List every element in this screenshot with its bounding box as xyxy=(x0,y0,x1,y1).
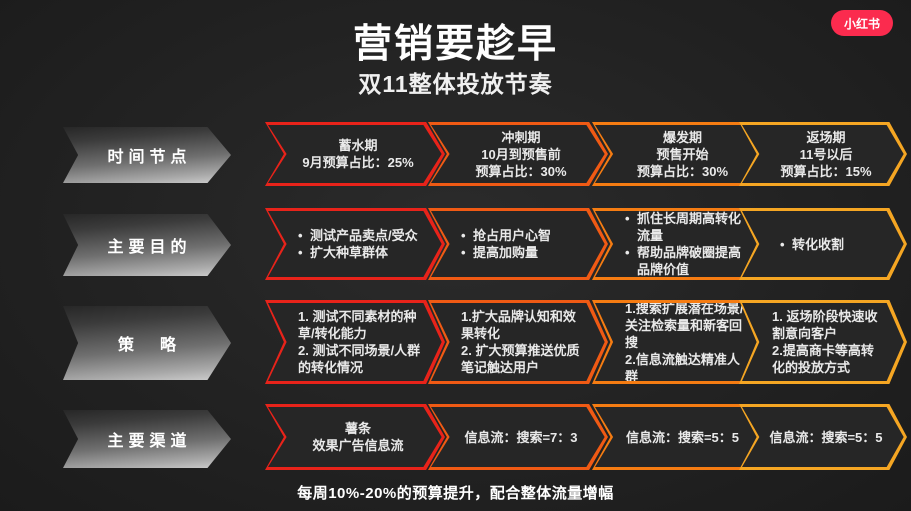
phase-cell-line: 11号以后 xyxy=(768,146,884,163)
phase-cell-line: 返场期 xyxy=(768,129,884,146)
bullet-item: •转化收割 xyxy=(780,236,884,253)
bullet-item: •抓住长周期高转化流量 xyxy=(625,210,744,244)
bullet-dot-icon: • xyxy=(298,227,310,244)
phase-cell-text: 1. 返场阶段快速收割意向客户2.提高商卡等高转化的投放方式 xyxy=(742,308,904,376)
phase-cell-fill: 返场期11号以后预算占比：15% xyxy=(742,125,904,183)
phase-cell-fill: 冲刺期10月到预售前预算占比：30% xyxy=(431,125,605,183)
phase-cell-fill: 蓄水期9月预算占比：25% xyxy=(268,125,442,183)
row-label-time-node: 时间节点 xyxy=(63,127,231,183)
xiaohongshu-logo: 小红书 xyxy=(831,10,893,36)
bullet-text: 转化收割 xyxy=(792,236,844,253)
phase-cell-line: 2. 测试不同场景/人群的转化情况 xyxy=(298,342,422,376)
bullet-item: •帮助品牌破圈提高品牌价值 xyxy=(625,244,744,278)
phase-cell-fill: 1. 返场阶段快速收割意向客户2.提高商卡等高转化的投放方式 xyxy=(742,303,904,381)
bullet-item: •抢占用户心智 xyxy=(461,227,585,244)
phase-cell-text: 信息流：搜索=5：5 xyxy=(595,429,764,446)
phase-cell-line: 预算占比：30% xyxy=(457,163,585,180)
phase-cell-fill: 1.扩大品牌认知和效果转化2. 扩大预算推送优质笔记触达用户 xyxy=(431,303,605,381)
bullet-text: 抓住长周期高转化流量 xyxy=(637,210,744,244)
phase-cell-line: 10月到预售前 xyxy=(457,146,585,163)
phase-cell-fill: 信息流：搜索=7：3 xyxy=(431,407,605,467)
phase-cell-r2-c2: •抢占用户心智•提高加购量 xyxy=(428,208,608,280)
bullet-dot-icon: • xyxy=(461,244,473,261)
phase-cell-text: •抢占用户心智•提高加购量 xyxy=(431,227,605,261)
phase-cell-r4-c2: 信息流：搜索=7：3 xyxy=(428,404,608,470)
phase-cell-line: 1. 测试不同素材的种草/转化能力 xyxy=(298,308,422,342)
bullet-text: 帮助品牌破圈提高品牌价值 xyxy=(637,244,744,278)
phase-cell-fill: 薯条效果广告信息流 xyxy=(268,407,442,467)
phase-cell-text: 1.搜索扩展潜在场景/关注检索量和新客回搜2.信息流触达精准人群 xyxy=(595,300,764,385)
row-label-text: 策略 xyxy=(92,331,202,355)
phase-cell-line: 效果广告信息流 xyxy=(294,437,422,454)
phase-cell-fill: •抢占用户心智•提高加购量 xyxy=(431,211,605,277)
phase-cell-text: 1.扩大品牌认知和效果转化2. 扩大预算推送优质笔记触达用户 xyxy=(431,308,605,376)
phase-cell-r3-c4: 1. 返场阶段快速收割意向客户2.提高商卡等高转化的投放方式 xyxy=(739,300,907,384)
bullet-item: •提高加购量 xyxy=(461,244,585,261)
phase-cell-line: 预算占比：15% xyxy=(768,163,884,180)
phase-cell-fill: 信息流：搜索=5：5 xyxy=(595,407,764,467)
phase-cell-text: •测试产品卖点/受众•扩大种草群体 xyxy=(268,227,442,261)
phase-cell-text: 爆发期预售开始预算占比：30% xyxy=(595,129,764,180)
phase-cell-text: 1. 测试不同素材的种草/转化能力2. 测试不同场景/人群的转化情况 xyxy=(268,308,442,376)
phase-cell-line: 信息流：搜索=7：3 xyxy=(457,429,585,446)
bullet-item: •扩大种草群体 xyxy=(298,244,422,261)
row-label-text: 主要目的 xyxy=(102,233,191,257)
phase-cell-line: 1.搜索扩展潜在场景/关注检索量和新客回搜 xyxy=(625,300,744,351)
bullet-dot-icon: • xyxy=(625,210,637,227)
bullet-item: •测试产品卖点/受众 xyxy=(298,227,422,244)
phase-cell-line: 1. 返场阶段快速收割意向客户 xyxy=(772,308,884,342)
bullet-dot-icon: • xyxy=(461,227,473,244)
phase-cell-text: 薯条效果广告信息流 xyxy=(268,420,442,454)
phase-cell-line: 信息流：搜索=5：5 xyxy=(621,429,744,446)
phase-cell-text: 返场期11号以后预算占比：15% xyxy=(742,129,904,180)
phase-cell-text: 蓄水期9月预算占比：25% xyxy=(268,137,442,171)
page-title: 营销要趁早 xyxy=(0,22,911,68)
phase-cell-r4-c1: 薯条效果广告信息流 xyxy=(265,404,445,470)
bullet-text: 测试产品卖点/受众 xyxy=(310,227,418,244)
bullet-text: 提高加购量 xyxy=(473,244,538,261)
phase-cell-text: •转化收割 xyxy=(742,236,904,253)
row-label-text: 时间节点 xyxy=(102,143,191,167)
phase-cell-fill: 爆发期预售开始预算占比：30% xyxy=(595,125,764,183)
phase-cell-text: •抓住长周期高转化流量•帮助品牌破圈提高品牌价值 xyxy=(595,210,764,278)
bullet-dot-icon: • xyxy=(780,236,792,253)
row-label-strategy: 策略 xyxy=(63,306,231,380)
phase-cell-r2-c4: •转化收割 xyxy=(739,208,907,280)
phase-cell-line: 2.信息流触达精准人群 xyxy=(625,351,744,385)
phase-cell-line: 2.提高商卡等高转化的投放方式 xyxy=(772,342,884,376)
phase-cell-fill: •转化收割 xyxy=(742,211,904,277)
phase-cell-fill: 1. 测试不同素材的种草/转化能力2. 测试不同场景/人群的转化情况 xyxy=(268,303,442,381)
phase-cell-line: 蓄水期 xyxy=(294,137,422,154)
phase-cell-r2-c1: •测试产品卖点/受众•扩大种草群体 xyxy=(265,208,445,280)
slide-canvas: 营销要趁早 双11整体投放节奏 小红书 时间节点 主要目的 策略 主要渠道 蓄水… xyxy=(0,0,911,511)
bullet-dot-icon: • xyxy=(298,244,310,261)
phase-cell-line: 预算占比：30% xyxy=(621,163,744,180)
bullet-text: 扩大种草群体 xyxy=(310,244,388,261)
phase-cell-r1-c2: 冲刺期10月到预售前预算占比：30% xyxy=(428,122,608,186)
phase-cell-text: 信息流：搜索=7：3 xyxy=(431,429,605,446)
row-label-main-purpose: 主要目的 xyxy=(63,214,231,276)
phase-cell-r3-c3: 1.搜索扩展潜在场景/关注检索量和新客回搜2.信息流触达精准人群 xyxy=(592,300,767,384)
phase-cell-r1-c3: 爆发期预售开始预算占比：30% xyxy=(592,122,767,186)
phase-cell-text: 信息流：搜索=5：5 xyxy=(742,429,904,446)
phase-cell-line: 1.扩大品牌认知和效果转化 xyxy=(461,308,585,342)
bullet-dot-icon: • xyxy=(625,244,637,261)
phase-cell-text: 冲刺期10月到预售前预算占比：30% xyxy=(431,129,605,180)
page-subtitle: 双11整体投放节奏 xyxy=(0,70,911,98)
phase-cell-line: 薯条 xyxy=(294,420,422,437)
phase-cell-r3-c1: 1. 测试不同素材的种草/转化能力2. 测试不同场景/人群的转化情况 xyxy=(265,300,445,384)
phase-cell-r2-c3: •抓住长周期高转化流量•帮助品牌破圈提高品牌价值 xyxy=(592,208,767,280)
phase-cell-r3-c2: 1.扩大品牌认知和效果转化2. 扩大预算推送优质笔记触达用户 xyxy=(428,300,608,384)
phase-cell-fill: 信息流：搜索=5：5 xyxy=(742,407,904,467)
footer-note: 每周10%-20%的预算提升，配合整体流量增幅 xyxy=(0,482,911,503)
row-label-main-channel: 主要渠道 xyxy=(63,410,231,468)
phase-cell-r1-c1: 蓄水期9月预算占比：25% xyxy=(265,122,445,186)
phase-cell-line: 信息流：搜索=5：5 xyxy=(768,429,884,446)
phase-cell-line: 2. 扩大预算推送优质笔记触达用户 xyxy=(461,342,585,376)
phase-cell-fill: •测试产品卖点/受众•扩大种草群体 xyxy=(268,211,442,277)
phase-cell-line: 爆发期 xyxy=(621,129,744,146)
row-label-text: 主要渠道 xyxy=(102,427,191,451)
phase-cell-r4-c4: 信息流：搜索=5：5 xyxy=(739,404,907,470)
phase-cell-line: 冲刺期 xyxy=(457,129,585,146)
phase-cell-line: 9月预算占比：25% xyxy=(294,154,422,171)
bullet-text: 抢占用户心智 xyxy=(473,227,551,244)
phase-cell-fill: 1.搜索扩展潜在场景/关注检索量和新客回搜2.信息流触达精准人群 xyxy=(595,303,764,381)
phase-cell-line: 预售开始 xyxy=(621,146,744,163)
phase-cell-fill: •抓住长周期高转化流量•帮助品牌破圈提高品牌价值 xyxy=(595,211,764,277)
phase-cell-r1-c4: 返场期11号以后预算占比：15% xyxy=(739,122,907,186)
phase-cell-r4-c3: 信息流：搜索=5：5 xyxy=(592,404,767,470)
